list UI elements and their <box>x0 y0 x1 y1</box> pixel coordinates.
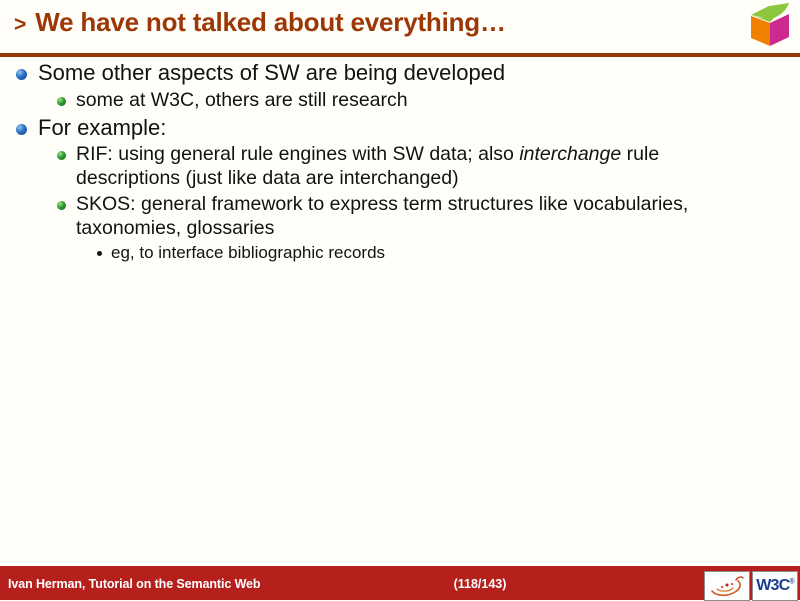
list-item-label: RIF: using general rule engines with SW … <box>76 143 766 191</box>
black-dot-bullet-icon <box>97 251 102 256</box>
w3c-logo-text: W3C® <box>756 578 794 594</box>
green-sphere-bullet-icon <box>57 201 66 210</box>
list-item: eg, to interface bibliographic records <box>97 243 800 264</box>
list-item-emphasis: interchange <box>519 143 621 165</box>
arabic-calligraphy-logo <box>704 571 750 601</box>
list-item: RIF: using general rule engines with SW … <box>57 143 800 191</box>
list-item-label: some at W3C, others are still research <box>76 89 408 113</box>
blue-sphere-bullet-icon <box>16 124 27 135</box>
semantic-web-cube-logo <box>746 2 794 48</box>
slide: > We have not talked about everything… S… <box>0 0 800 600</box>
blue-sphere-bullet-icon <box>16 69 27 80</box>
list-item: some at W3C, others are still research <box>57 89 800 113</box>
w3c-logo: W3C® <box>752 571 798 601</box>
page-number: (118/143) <box>80 577 800 591</box>
w3c-logo-superscript: ® <box>789 579 793 586</box>
title-caret-icon: > <box>14 14 26 35</box>
list-item-text-part: RIF: using general rule engines with SW … <box>76 143 519 165</box>
list-item-label: SKOS: general framework to express term … <box>76 193 766 241</box>
list-item: Some other aspects of SW are being devel… <box>16 60 800 87</box>
slide-footer: Ivan Herman, Tutorial on the Semantic We… <box>0 570 800 600</box>
footer-logos: W3C® <box>704 571 798 601</box>
green-sphere-bullet-icon <box>57 151 66 160</box>
list-item: For example: <box>16 115 800 142</box>
page-title: > We have not talked about everything… <box>14 9 506 36</box>
green-sphere-bullet-icon <box>57 97 66 106</box>
w3c-logo-label: W3C <box>756 577 789 594</box>
header-divider <box>0 53 800 57</box>
slide-header: > We have not talked about everything… <box>0 0 800 54</box>
slide-content: Some other aspects of SW are being devel… <box>0 60 800 560</box>
list-item-label: For example: <box>38 115 166 142</box>
title-text: We have not talked about everything… <box>35 9 506 36</box>
list-item: SKOS: general framework to express term … <box>57 193 800 241</box>
list-item-label: Some other aspects of SW are being devel… <box>38 60 505 87</box>
list-item-label: eg, to interface bibliographic records <box>111 243 385 264</box>
